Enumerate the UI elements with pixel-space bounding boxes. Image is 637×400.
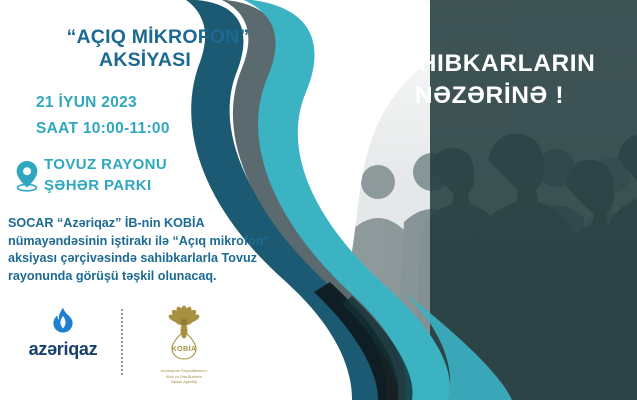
map-pin-icon [10,152,44,198]
location-line-2: ŞƏHƏR PARKI [44,175,167,196]
description-line-1: SOCAR “Azəriqaz” İB-nin KOBİA [8,215,328,233]
kobia-subtitle-line-2: Kiçik və Orta Biznesin [138,375,230,380]
flower-icon: KOBİA [155,305,213,363]
location-line-1: TOVUZ RAYONU [44,154,167,175]
kobia-subtitle-line-1: Azərbaycan Respublikasının [138,369,230,374]
event-title: “AÇIQ MİKROFON” AKSİYASI [8,26,308,72]
left-content-column: “AÇIQ MİKROFON” AKSİYASI 21 İYUN 2023 SA… [0,0,330,400]
logo-divider [121,309,123,375]
description-line-4: rayonunda görüşü təşkil olunacaq. [8,268,328,286]
kobia-subtitle-line-3: İnkişafı Agentliyi [138,380,230,385]
kobia-logo: KOBİA Azərbaycan Respublikasının Kiçik v… [138,305,230,385]
event-datetime: 21 İYUN 2023 SAAT 10:00-11:00 [36,90,170,142]
main-headline: SAHIBKARLARIN NƏZƏRİNƏ ! [352,48,627,112]
event-title-line-1: “AÇIQ MİKROFON” [8,26,308,49]
azeriqaz-logo: azəriqaz [20,307,106,360]
event-date: 21 İYUN 2023 [36,90,170,116]
event-title-line-2: AKSİYASI [8,49,308,72]
logo-row: azəriqaz [12,305,242,390]
description-line-2: nümayəndəsinin iştirakı ilə “Açıq mikrof… [8,233,328,251]
location-text: TOVUZ RAYONU ŞƏHƏR PARKI [44,152,167,196]
event-description: SOCAR “Azəriqaz” İB-nin KOBİA nümayəndəs… [8,215,328,285]
flame-icon [51,307,75,333]
event-location: TOVUZ RAYONU ŞƏHƏR PARKI [10,152,167,198]
promo-poster: “AÇIQ MİKROFON” AKSİYASI 21 İYUN 2023 SA… [0,0,637,400]
description-line-3: aksiyası çərçivəsində sahibkarlarla Tovu… [8,250,328,268]
event-time: SAAT 10:00-11:00 [36,116,170,142]
headline-line-2: NƏZƏRİNƏ ! [352,80,627,112]
svg-text:KOBİA: KOBİA [171,344,196,353]
headline-line-1: SAHIBKARLARIN [352,48,627,80]
azeriqaz-wordmark: azəriqaz [20,339,106,360]
